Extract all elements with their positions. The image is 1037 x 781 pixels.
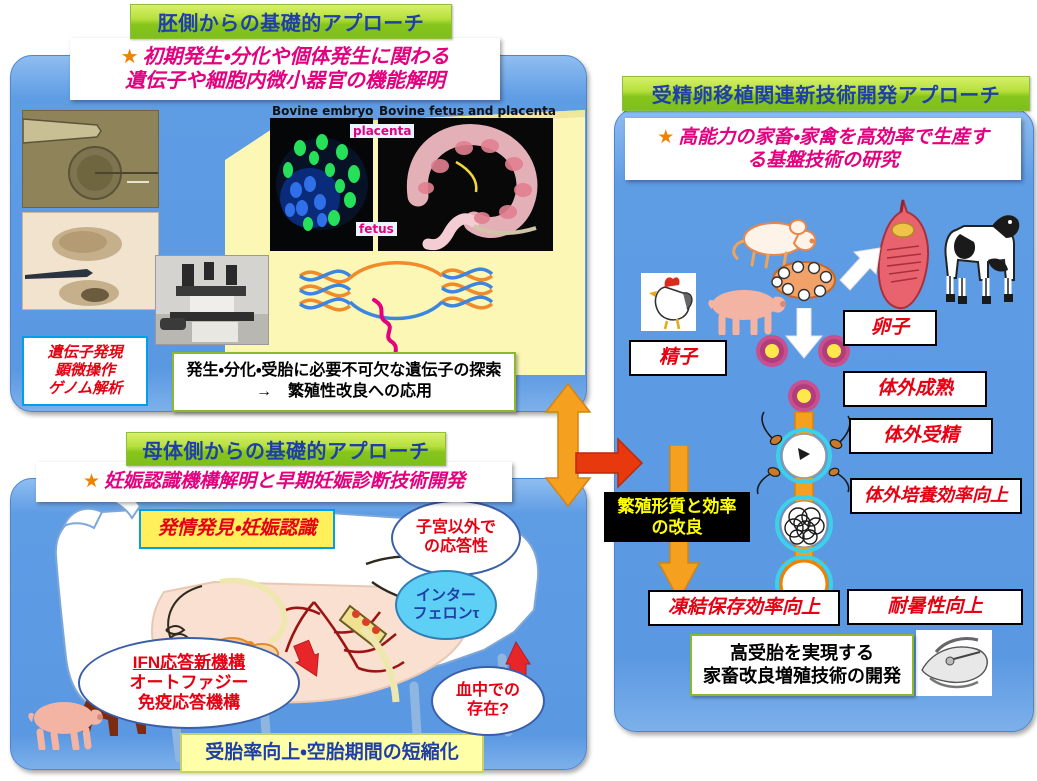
embryo-conclusion-line2: → 繁殖性改良への応用 — [256, 382, 432, 403]
cow-icon — [938, 200, 1022, 310]
callout-ifn-mechanisms: IFN応答新機構 オートファジー 免疫応答機構 — [78, 637, 300, 729]
callout-interferon-line2: フェロンτ — [413, 605, 480, 623]
callout-extrauterine-line2: の応答性 — [424, 538, 488, 557]
embryo-conclusion-box: 発生・分化・受胎に必要不可欠な遺伝子の探索 → 繁殖性改良への応用 — [172, 352, 516, 412]
caption-bovine-embryo: Bovine embryo — [272, 104, 373, 118]
center-box-line1: 繁殖形質と効率 — [618, 496, 737, 517]
label-ivm: 体外成熟 — [843, 371, 987, 407]
label-techniques: 遺伝子発現 顕微操作 ゲノム解析 — [22, 336, 148, 406]
star-icon: ★ — [121, 46, 139, 68]
oocyte-icon — [786, 378, 822, 414]
star-icon: ★ — [657, 127, 674, 148]
ovary-icon — [768, 255, 840, 305]
embryo-statement: ★初期発生・分化や個体発生に関わる 遺伝子や細胞内微小器官の機能解明 — [70, 38, 500, 100]
caption-placenta: placenta — [350, 124, 414, 138]
embryo-statement-line2: 遺伝子や細胞内微小器官の機能解明 — [125, 69, 445, 93]
morula-icon — [772, 492, 836, 556]
transfer-conclusion-line2: 家畜改良増殖技術の開発 — [703, 665, 901, 688]
technique-item-0: 遺伝子発現 — [47, 344, 122, 362]
transfer-conclusion-box: 高受胎を実現する 家畜改良増殖技術の開発 — [690, 634, 914, 696]
title-maternal-approach: 母体側からの基礎的アプローチ — [126, 432, 446, 466]
label-ivf: 体外受精 — [849, 418, 993, 454]
dna-helix-icon — [292, 258, 512, 363]
callout-ifn-line1: IFN応答新機構 — [133, 653, 245, 673]
diagram-canvas: Bovine embryo Bovine fetus and placenta … — [0, 0, 1037, 781]
callout-ifn-line2: オートファジー — [130, 673, 249, 693]
caption-bovine-fetus: Bovine fetus and placenta — [379, 104, 556, 118]
embryo-statement-line1: ★初期発生・分化や個体発生に関わる — [121, 45, 450, 69]
embryo-conclusion-line1: 発生・分化・受胎に必要不可欠な遺伝子の探索 — [187, 361, 502, 382]
callout-interferon-line1: インター — [416, 587, 476, 605]
label-oocyte: 卵子 — [843, 310, 937, 346]
zygote-icon — [752, 410, 856, 502]
maternal-statement: ★ 妊娠認識機構解明と早期妊娠診断技術開発 — [36, 462, 512, 502]
transfer-statement-line2: る基盤技術の研究 — [747, 149, 899, 172]
title-embryo-approach: 胚側からの基礎的アプローチ — [130, 4, 452, 39]
technique-item-1: 顕微操作 — [55, 362, 115, 380]
center-improvement-box: 繁殖形質と効率 の改良 — [604, 492, 750, 542]
oocyte-icon — [754, 333, 790, 369]
callout-blood-presence: 血中での 存在? — [431, 666, 545, 736]
callout-extrauterine-line1: 子宮以外で — [416, 519, 496, 538]
arrow-right-red — [574, 435, 644, 491]
center-box-line2: の改良 — [652, 517, 703, 538]
label-cryopreservation: 凍結保存効率向上 — [648, 590, 840, 626]
callout-interferon-tau: インター フェロンτ — [395, 570, 497, 640]
photo-embryo-bisection — [22, 212, 159, 310]
caption-fetus: fetus — [356, 222, 397, 236]
photo-micromanipulation-injection — [22, 110, 159, 208]
label-sperm: 精子 — [629, 340, 727, 376]
star-icon: ★ — [83, 470, 100, 493]
transfer-statement-line1: ★高能力の家畜・家禽を高効率で生産す — [657, 126, 989, 149]
label-estrus-detection: 発情発見・妊娠認識 — [139, 509, 335, 549]
photo-embryo-transfer-procedure — [916, 630, 992, 696]
callout-ifn-line3: 免疫応答機構 — [138, 693, 240, 713]
callout-extrauterine-response: 子宮以外で の応答性 — [391, 500, 521, 576]
title-embryo-transfer: 受精卵移植関連新技術開発アプローチ — [622, 76, 1030, 111]
label-ivc: 体外培養効率向上 — [850, 478, 1022, 514]
technique-item-2: ゲノム解析 — [48, 380, 123, 398]
callout-blood-line1: 血中での — [456, 682, 520, 701]
callout-blood-line2: 存在? — [467, 701, 509, 720]
label-heat-tolerance: 耐暑性向上 — [847, 589, 1023, 625]
transfer-conclusion-line1: 高受胎を実現する — [730, 642, 874, 665]
maternal-conclusion-box: 受胎率向上・空胎期間の短縮化 — [180, 733, 484, 773]
photo-microscope — [155, 255, 269, 345]
arrow-white-left — [836, 240, 902, 294]
maternal-statement-line1: 妊娠認識機構解明と早期妊娠診断技術開発 — [104, 470, 465, 493]
chicken-icon — [641, 273, 696, 331]
transfer-statement: ★高能力の家畜・家禽を高効率で生産す る基盤技術の研究 — [625, 118, 1021, 180]
